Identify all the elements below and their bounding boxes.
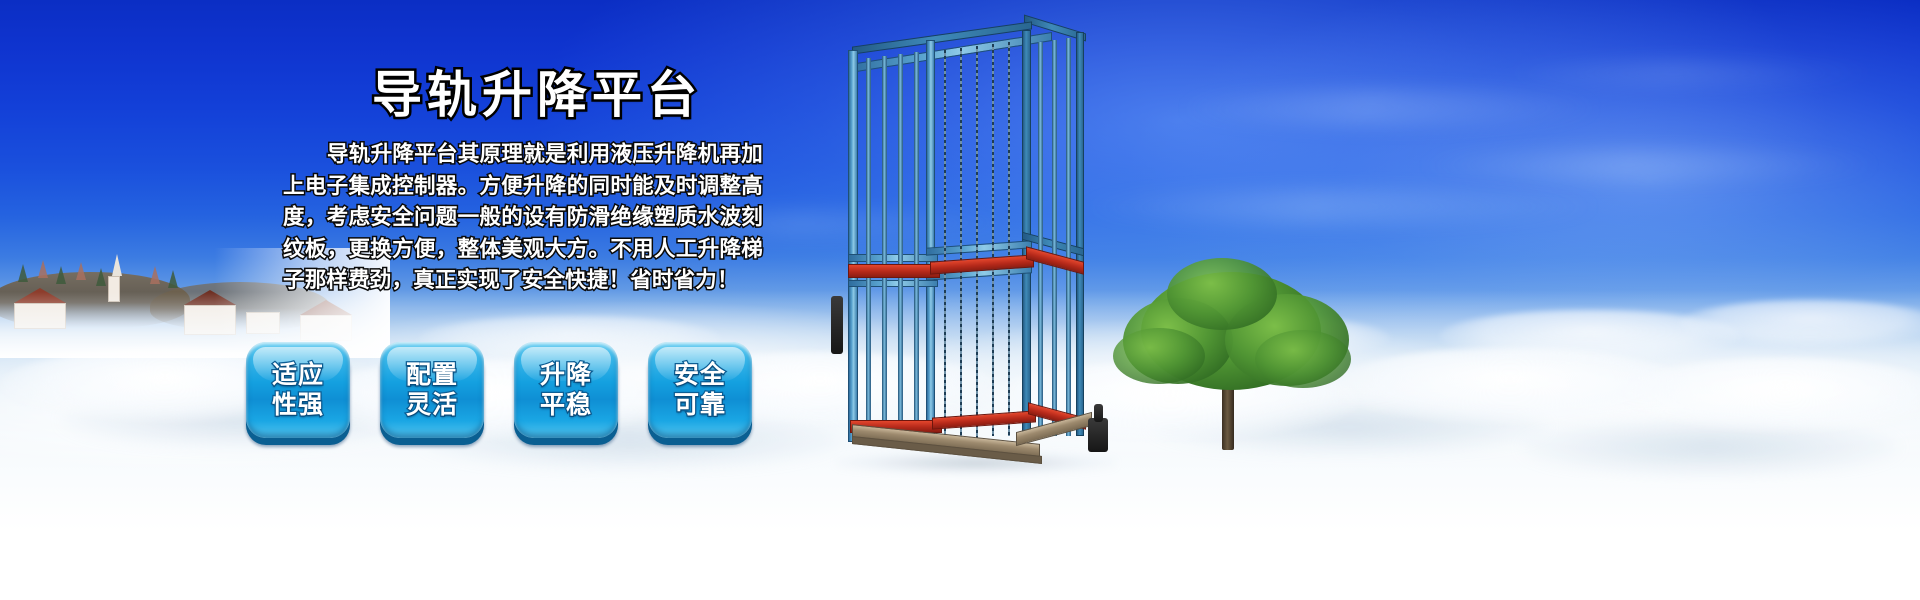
feature-label-line2: 性强 — [272, 390, 324, 419]
feature-button-row: 适应 性强 配置 灵活 升降 平稳 安全 可靠 — [246, 342, 752, 438]
guide-rail-lift-platform — [826, 18, 1126, 468]
feature-button-smooth-lifting[interactable]: 升降 平稳 — [514, 342, 618, 438]
promo-banner: 导轨升降平台 导轨升降平台其原理就是利用液压升降机再加上电子集成控制器。方便升降… — [0, 0, 1920, 600]
description-paragraph: 导轨升降平台其原理就是利用液压升降机再加上电子集成控制器。方便升降的同时能及时调… — [283, 139, 763, 297]
feature-label-line1: 配置 — [406, 360, 458, 389]
sky-wisp — [1080, 190, 1600, 224]
feature-button-configuration[interactable]: 配置 灵活 — [380, 342, 484, 438]
feature-label-line1: 适应 — [272, 360, 324, 389]
feature-label-line2: 灵活 — [406, 390, 458, 419]
sky-wisp — [1180, 90, 1600, 126]
feature-label-line2: 可靠 — [674, 390, 726, 419]
page-title: 导轨升降平台 — [372, 55, 702, 127]
feature-button-safety[interactable]: 安全 可靠 — [648, 342, 752, 438]
sky-wisp — [1500, 60, 1880, 86]
green-tree — [1105, 250, 1365, 465]
feature-label-line1: 安全 — [674, 360, 726, 389]
feature-label-line1: 升降 — [540, 360, 592, 389]
feature-button-adaptability[interactable]: 适应 性强 — [246, 342, 350, 438]
sky-wisp — [1420, 150, 1880, 180]
feature-label-line2: 平稳 — [540, 390, 592, 419]
